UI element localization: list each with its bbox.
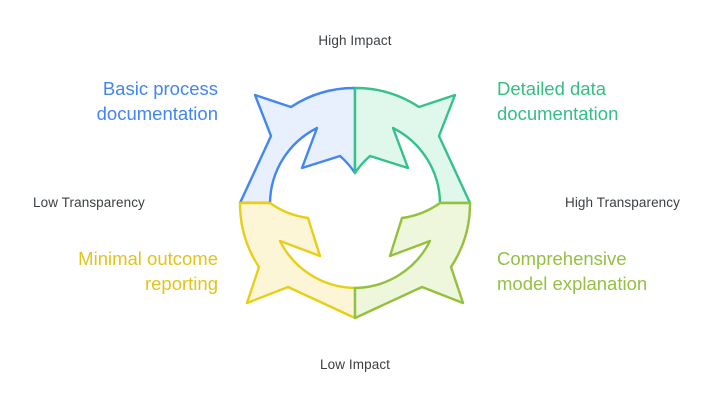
axis-label-low-transparency: Low Transparency (33, 195, 145, 210)
quadrant-label-minimal-outcome-reporting: Minimal outcome reporting (18, 246, 218, 296)
quadrant-top-left-arrow[interactable] (240, 88, 355, 203)
quadrant-label-detailed-data-documentation: Detailed data documentation (497, 76, 697, 126)
quadrant-label-comprehensive-model-explanation: Comprehensive model explanation (497, 246, 702, 296)
axis-label-high-impact: High Impact (0, 33, 710, 48)
quadrant-bottom-right-arrow[interactable] (355, 203, 470, 318)
quadrant-top-right-arrow[interactable] (355, 88, 470, 203)
quadrant-label-basic-process-documentation: Basic process documentation (20, 76, 218, 126)
quadrant-bottom-left-arrow[interactable] (240, 203, 355, 318)
axis-label-low-impact: Low Impact (0, 357, 710, 372)
axis-label-high-transparency: High Transparency (565, 195, 680, 210)
